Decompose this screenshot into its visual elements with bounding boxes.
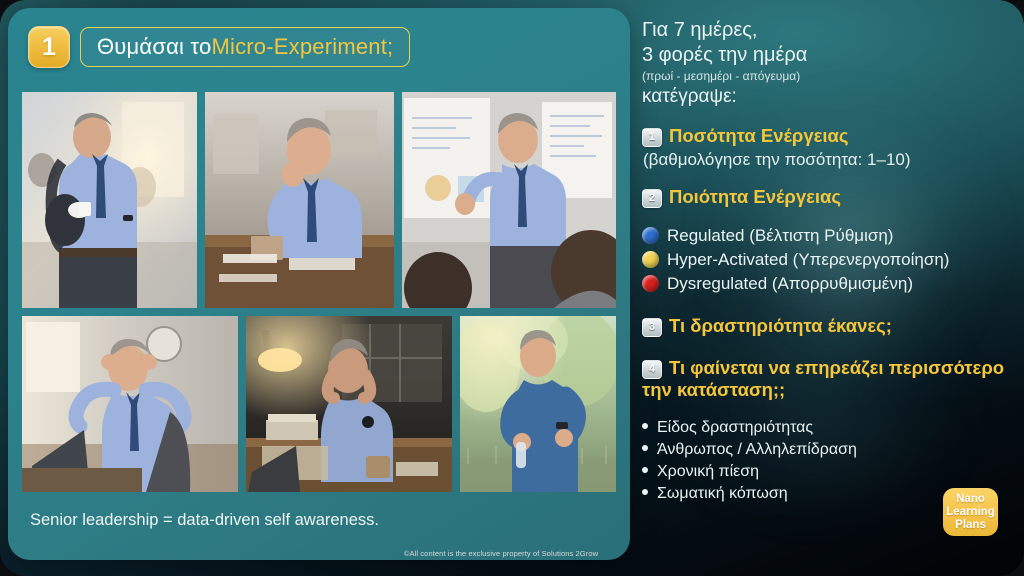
photo-relaxed-art <box>22 316 238 492</box>
bullet-label: Άνθρωπος / Αλληλεπίδραση <box>657 439 857 461</box>
legend-item-dysregulated: Dysregulated (Απορρυθμισμένη) <box>642 272 1010 295</box>
bullet-dot-icon <box>642 489 648 495</box>
photo-stressed-head-in-hands <box>246 316 452 492</box>
list-item: Χρονική πίεση <box>642 461 1010 483</box>
nano-learning-plans-badge[interactable]: Nano Learning Plans <box>943 488 998 536</box>
section-4-title: Τι φαίνεται να επηρεάζει περισσότερο <box>669 357 1004 379</box>
section-2-title: Ποιότητα Ενέργειας <box>669 186 841 208</box>
copyright-text: ©All content is the exclusive property o… <box>404 549 620 558</box>
intro-line-1: Για 7 ημέρες, <box>642 18 1010 43</box>
section-2-number: 2 <box>642 189 662 208</box>
section-1-note: (βαθμολόγησε την ποσότητα: 1–10) <box>643 149 1010 171</box>
photo-running-art <box>460 316 616 492</box>
legend-dot-blue <box>642 227 659 244</box>
list-item: Άνθρωπος / Αλληλεπίδραση <box>642 439 1010 461</box>
section-4-title-line2: την κατάσταση;; <box>642 379 1010 401</box>
photo-walking-with-coffee-art <box>22 92 197 308</box>
slide-root: 1 Θυμάσαι το Micro-Experiment; <box>0 0 1024 576</box>
photo-presenting-to-team-art <box>402 92 616 308</box>
section-4-number: 4 <box>642 360 662 379</box>
legend-label-dysregulated: Dysregulated (Απορρυθμισμένη) <box>667 272 913 295</box>
copyright-notice: ©All content is the exclusive property o… <box>0 549 1024 558</box>
slide-header: 1 Θυμάσαι το Micro-Experiment; <box>28 26 410 68</box>
bullet-label: Σωματική κόπωση <box>657 483 788 505</box>
photo-presenting-to-team <box>402 92 616 308</box>
badge-line-2: Learning <box>946 506 995 519</box>
left-image-card: 1 Θυμάσαι το Micro-Experiment; <box>8 8 630 560</box>
left-caption: Senior leadership = data-driven self awa… <box>30 511 379 530</box>
intro-line-3: κατέγραψε: <box>642 84 1010 109</box>
legend-dot-red <box>642 275 659 292</box>
bullet-dot-icon <box>642 423 648 429</box>
section-3: 3 Τι δραστηριότητα έκανες; <box>642 315 1010 337</box>
right-content: Για 7 ημέρες, 3 φορές την ημέρα (πρωί - … <box>642 18 1010 505</box>
legend-item-regulated: Regulated (Βέλτιστη Ρύθμιση) <box>642 224 1010 247</box>
section-1: 1 Ποσότητα Ενέργειας <box>642 125 1010 147</box>
bullet-dot-icon <box>642 445 648 451</box>
section-1-title: Ποσότητα Ενέργειας <box>669 125 849 147</box>
section-3-number: 3 <box>642 318 662 337</box>
page-title: Θυμάσαι το Micro-Experiment; <box>80 27 410 67</box>
legend-label-hyper-activated: Hyper-Activated (Υπερενεργοποίηση) <box>667 248 949 271</box>
legend-dot-yellow <box>642 251 659 268</box>
photo-running-outdoors <box>460 316 616 492</box>
section-2: 2 Ποιότητα Ενέργειας <box>642 186 1010 208</box>
intro-note: (πρωί - μεσημέρι - απόγευμα) <box>642 68 1010 84</box>
photo-relaxed-hands-behind-head <box>22 316 238 492</box>
badge-line-1: Nano <box>956 493 985 506</box>
photo-thinking-at-desk <box>205 92 394 308</box>
section-3-title: Τι δραστηριότητα έκανες; <box>669 315 892 337</box>
section-4: 4 Τι φαίνεται να επηρεάζει περισσότερο <box>642 357 1010 379</box>
list-item: Είδος δραστηριότητας <box>642 417 1010 439</box>
bullet-label: Είδος δραστηριότητας <box>657 417 813 439</box>
legend-label-regulated: Regulated (Βέλτιστη Ρύθμιση) <box>667 224 893 247</box>
bullet-dot-icon <box>642 467 648 473</box>
step-number-badge: 1 <box>28 26 70 68</box>
photo-walking-with-coffee <box>22 92 197 308</box>
photo-stressed-art <box>246 316 452 492</box>
intro-line-2: 3 φορές την ημέρα <box>642 43 1010 68</box>
badge-line-3: Plans <box>955 519 986 532</box>
energy-quality-legend: Regulated (Βέλτιστη Ρύθμιση) Hyper-Activ… <box>642 224 1010 295</box>
photo-thinking-at-desk-art <box>205 92 394 308</box>
bullet-label: Χρονική πίεση <box>657 461 759 483</box>
page-title-accent: Micro-Experiment; <box>211 34 393 60</box>
legend-item-hyper-activated: Hyper-Activated (Υπερενεργοποίηση) <box>642 248 1010 271</box>
section-1-number: 1 <box>642 128 662 147</box>
page-title-plain: Θυμάσαι το <box>97 34 211 60</box>
photo-grid <box>22 92 616 492</box>
